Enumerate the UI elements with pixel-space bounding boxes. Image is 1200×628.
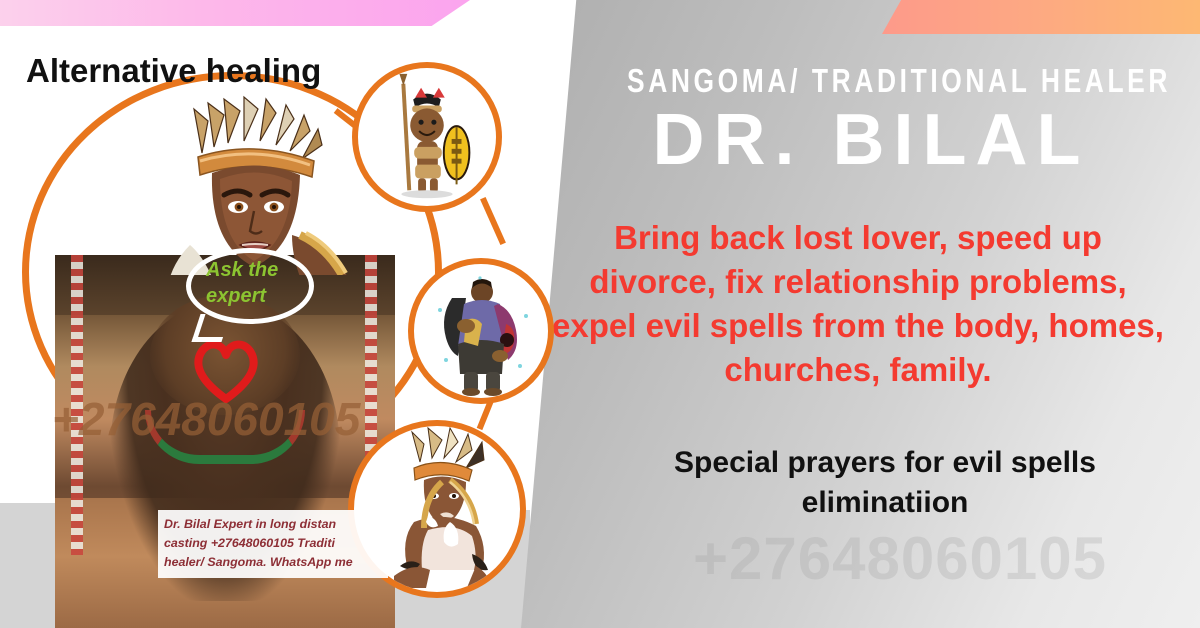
phone-watermark: +27648060105 (620, 524, 1180, 593)
caption-line-1: Dr. Bilal Expert in long distan (164, 515, 382, 534)
photo-caption-box: Dr. Bilal Expert in long distan casting … (158, 510, 388, 578)
traditional-healer-illustration (408, 258, 554, 404)
caption-line-2: casting +27648060105 Traditi (164, 534, 382, 553)
top-pink-banner (0, 0, 470, 26)
kicker-text: SANGOMA/ TRADITIONAL HEALER (627, 62, 1115, 100)
prayers-text: Special prayers for evil spells eliminat… (600, 443, 1170, 522)
services-text: Bring back lost lover, speed up divorce,… (548, 216, 1168, 392)
photo-phone-watermark: +27648060105 (52, 392, 402, 446)
alternative-healing-title: Alternative healing (26, 52, 321, 90)
poster-canvas: SANGOMA/ TRADITIONAL HEALER DR. BILAL Br… (0, 0, 1200, 628)
speech-bubble-text: Ask the expert (206, 258, 316, 309)
top-orange-banner (882, 0, 1200, 34)
bottom-left-gray-strip (0, 503, 60, 628)
caption-line-3: healer/ Sangoma. WhatsApp me (164, 553, 382, 572)
page-title: DR. BILAL (566, 104, 1176, 176)
zulu-warrior-illustration (352, 62, 502, 212)
